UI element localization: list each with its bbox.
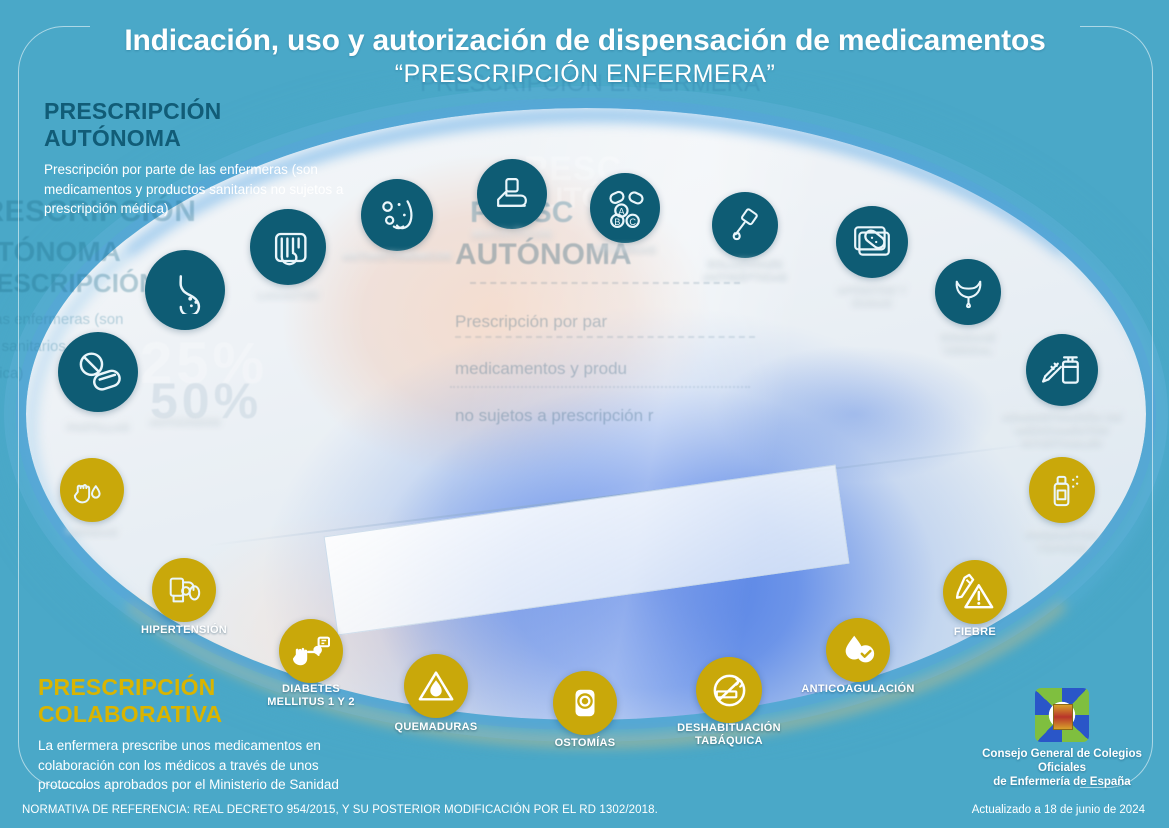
- icon-bubble-ostomy-icon[interactable]: [553, 671, 617, 735]
- icon-bubble-blood-drop-check-icon[interactable]: [826, 618, 890, 682]
- icon-label: MUCOLÍTICOS: [437, 228, 587, 241]
- icon-label: PRODUCTOS TÓPICOS: [987, 528, 1137, 554]
- vitamins-abc-icon: ABC: [605, 188, 646, 229]
- icon-bubble-bandage-icon[interactable]: [836, 206, 908, 278]
- svg-text:C: C: [629, 216, 636, 226]
- icon-bubble-pills-icon[interactable]: [58, 332, 138, 412]
- icon-label: DIABETES MELLITUS 1 Y 2: [236, 683, 386, 709]
- blood-drop-check-icon: [839, 631, 877, 669]
- blood-pressure-icon: [165, 571, 203, 609]
- section-colaborativa-body: La enfermera prescribe unos medicamentos…: [38, 736, 368, 795]
- infographic-canvas: Indicación, uso y autorización de dispen…: [0, 0, 1169, 828]
- burn-warning-icon: [417, 667, 455, 705]
- icon-bubble-no-smoking-icon[interactable]: [696, 657, 762, 723]
- icon-label: OSTOMÍAS: [510, 737, 660, 750]
- icon-bubble-blood-pressure-icon[interactable]: [152, 558, 216, 622]
- icon-label: FIEBRE: [900, 626, 1050, 639]
- icon-bubble-antiseptic-icon[interactable]: [712, 192, 778, 258]
- pills-icon: [75, 349, 122, 396]
- bladder-icon: [949, 273, 988, 312]
- icon-bubble-fever-icon[interactable]: [943, 560, 1007, 624]
- icon-bubble-wound-hand-icon[interactable]: [60, 458, 124, 522]
- antiseptic-icon: [726, 206, 765, 245]
- ostomy-icon: [566, 684, 604, 722]
- icon-bubble-glucometer-icon[interactable]: [279, 619, 343, 683]
- icon-label: ANTIHISTAMÍNICOS: [322, 250, 472, 263]
- icon-label: QUEMADURAS: [361, 721, 511, 734]
- syringe-vial-icon: [1041, 349, 1083, 391]
- footer-updated: Actualizado a 18 de junio de 2024: [972, 804, 1145, 816]
- icon-bubble-syringe-vial-icon[interactable]: [1026, 334, 1098, 406]
- icon-label: PASTILLAS: [23, 420, 173, 433]
- footer-normativa: NORMATIVA DE REFERENCIA: REAL DECRETO 95…: [22, 804, 658, 816]
- icon-label: SOLUCIONES ANTISÉPTICAS: [670, 257, 820, 283]
- icon-bubble-allergy-icon[interactable]: [361, 179, 433, 251]
- fever-icon: [956, 573, 994, 611]
- icon-label: ANTICOAGULACIÓN: [783, 683, 933, 696]
- icon-bubble-spray-icon[interactable]: [1029, 457, 1095, 523]
- no-smoking-icon: [710, 671, 749, 710]
- icon-label: LAXANTES: [213, 288, 363, 301]
- wound-hand-icon: [73, 471, 111, 509]
- icon-label: HERIDAS: [17, 525, 167, 538]
- stomach-icon: [162, 267, 209, 314]
- spray-icon: [1043, 471, 1082, 510]
- section-autonoma-heading: PRESCRIPCIÓN AUTÓNOMA: [44, 98, 374, 152]
- section-prescripcion-autonoma: PRESCRIPCIÓN AUTÓNOMA Prescripción por p…: [44, 98, 374, 219]
- inhaler-icon: [492, 174, 533, 215]
- icon-bubble-bladder-icon[interactable]: [935, 259, 1001, 325]
- glucometer-icon: [292, 632, 330, 670]
- spain-nursing-crest-icon: [1035, 688, 1089, 742]
- bandage-icon: [851, 221, 893, 263]
- icon-label: VITAMINAS: [550, 243, 700, 256]
- icon-bubble-inhaler-icon[interactable]: [477, 159, 547, 229]
- icon-label: SONDAJE VESICAL: [893, 330, 1043, 356]
- icon-bubble-intestine-icon[interactable]: [250, 209, 326, 285]
- page-subtitle: “PRESCRIPCIÓN ENFERMERA”: [60, 60, 1110, 89]
- section-autonoma-body: Prescripción por parte de las enfermeras…: [44, 160, 374, 219]
- icon-bubble-burn-warning-icon[interactable]: [404, 654, 468, 718]
- icon-label: HIPERTENSIÓN: [109, 624, 259, 637]
- intestine-icon: [266, 225, 311, 270]
- allergy-icon: [376, 194, 418, 236]
- icon-label: DESHABITUACIÓN TABÁQUICA: [654, 722, 804, 748]
- svg-text:B: B: [614, 216, 620, 226]
- icon-bubble-vitamins-abc-icon[interactable]: ABC: [590, 173, 660, 243]
- logo-line-1: Consejo General de Colegios Oficiales: [962, 747, 1162, 775]
- icon-label: ADMINISTRACIÓN DE MEDICAMENTOS INYECTABL…: [987, 410, 1137, 449]
- organization-logo: Consejo General de Colegios Oficiales de…: [962, 688, 1162, 789]
- icon-label: APÓSITOS Y CURAS: [797, 283, 947, 309]
- page-title: Indicación, uso y autorización de dispen…: [60, 24, 1110, 58]
- logo-line-2: de Enfermería de España: [962, 775, 1162, 789]
